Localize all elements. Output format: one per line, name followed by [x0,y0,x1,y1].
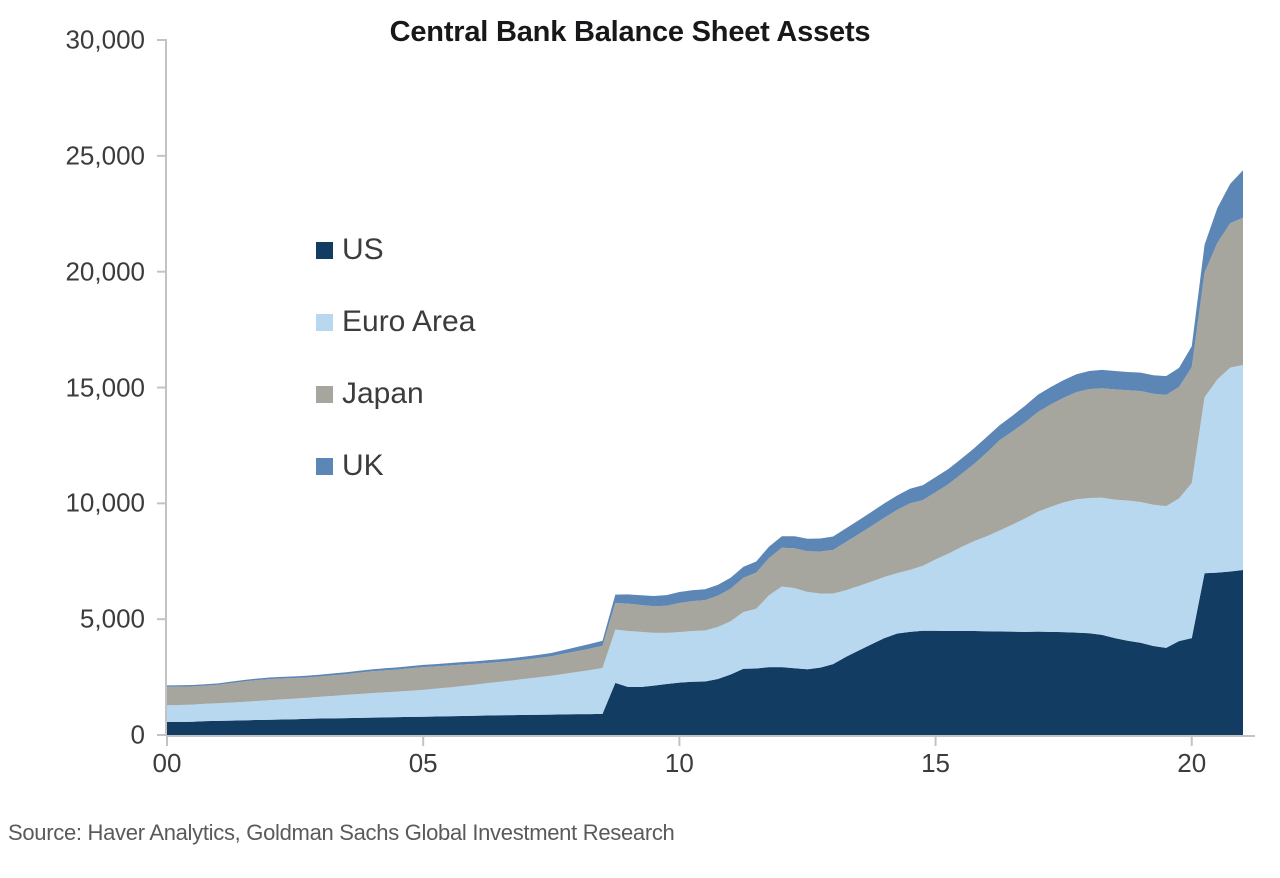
y-axis-tick-label: 10,000 [0,488,145,519]
x-axis-tick-label: 05 [383,748,463,779]
legend-label-uk: UK [342,451,384,481]
legend-item-uk[interactable]: UK [316,430,475,502]
y-axis-tick-label: 20,000 [0,256,145,287]
legend-swatch-japan [316,386,333,403]
legend-swatch-euro-area [316,314,333,331]
x-axis-tick-label: 20 [1152,748,1232,779]
legend-swatch-us [316,242,333,259]
x-axis-tick-label: 10 [639,748,719,779]
y-axis-tick-label: 30,000 [0,25,145,56]
legend-swatch-uk [316,458,333,475]
x-axis-tick-label: 15 [896,748,976,779]
chart-figure: Central Bank Balance Sheet Assets 30,000… [0,0,1280,878]
chart-legend: US Euro Area Japan UK [316,214,475,502]
legend-label-us: US [342,235,384,265]
y-axis-tick-label: 0 [0,720,145,751]
legend-item-euro-area[interactable]: Euro Area [316,286,475,358]
legend-item-japan[interactable]: Japan [316,358,475,430]
y-axis-tick-label: 25,000 [0,140,145,171]
x-axis-tick-label: 00 [127,748,207,779]
stacked-area-plot [0,0,1280,878]
legend-label-euro-area: Euro Area [342,307,475,337]
y-axis-tick-label: 5,000 [0,604,145,635]
legend-label-japan: Japan [342,379,424,409]
source-note: Source: Haver Analytics, Goldman Sachs G… [8,820,675,846]
legend-item-us[interactable]: US [316,214,475,286]
y-axis-tick-label: 15,000 [0,372,145,403]
